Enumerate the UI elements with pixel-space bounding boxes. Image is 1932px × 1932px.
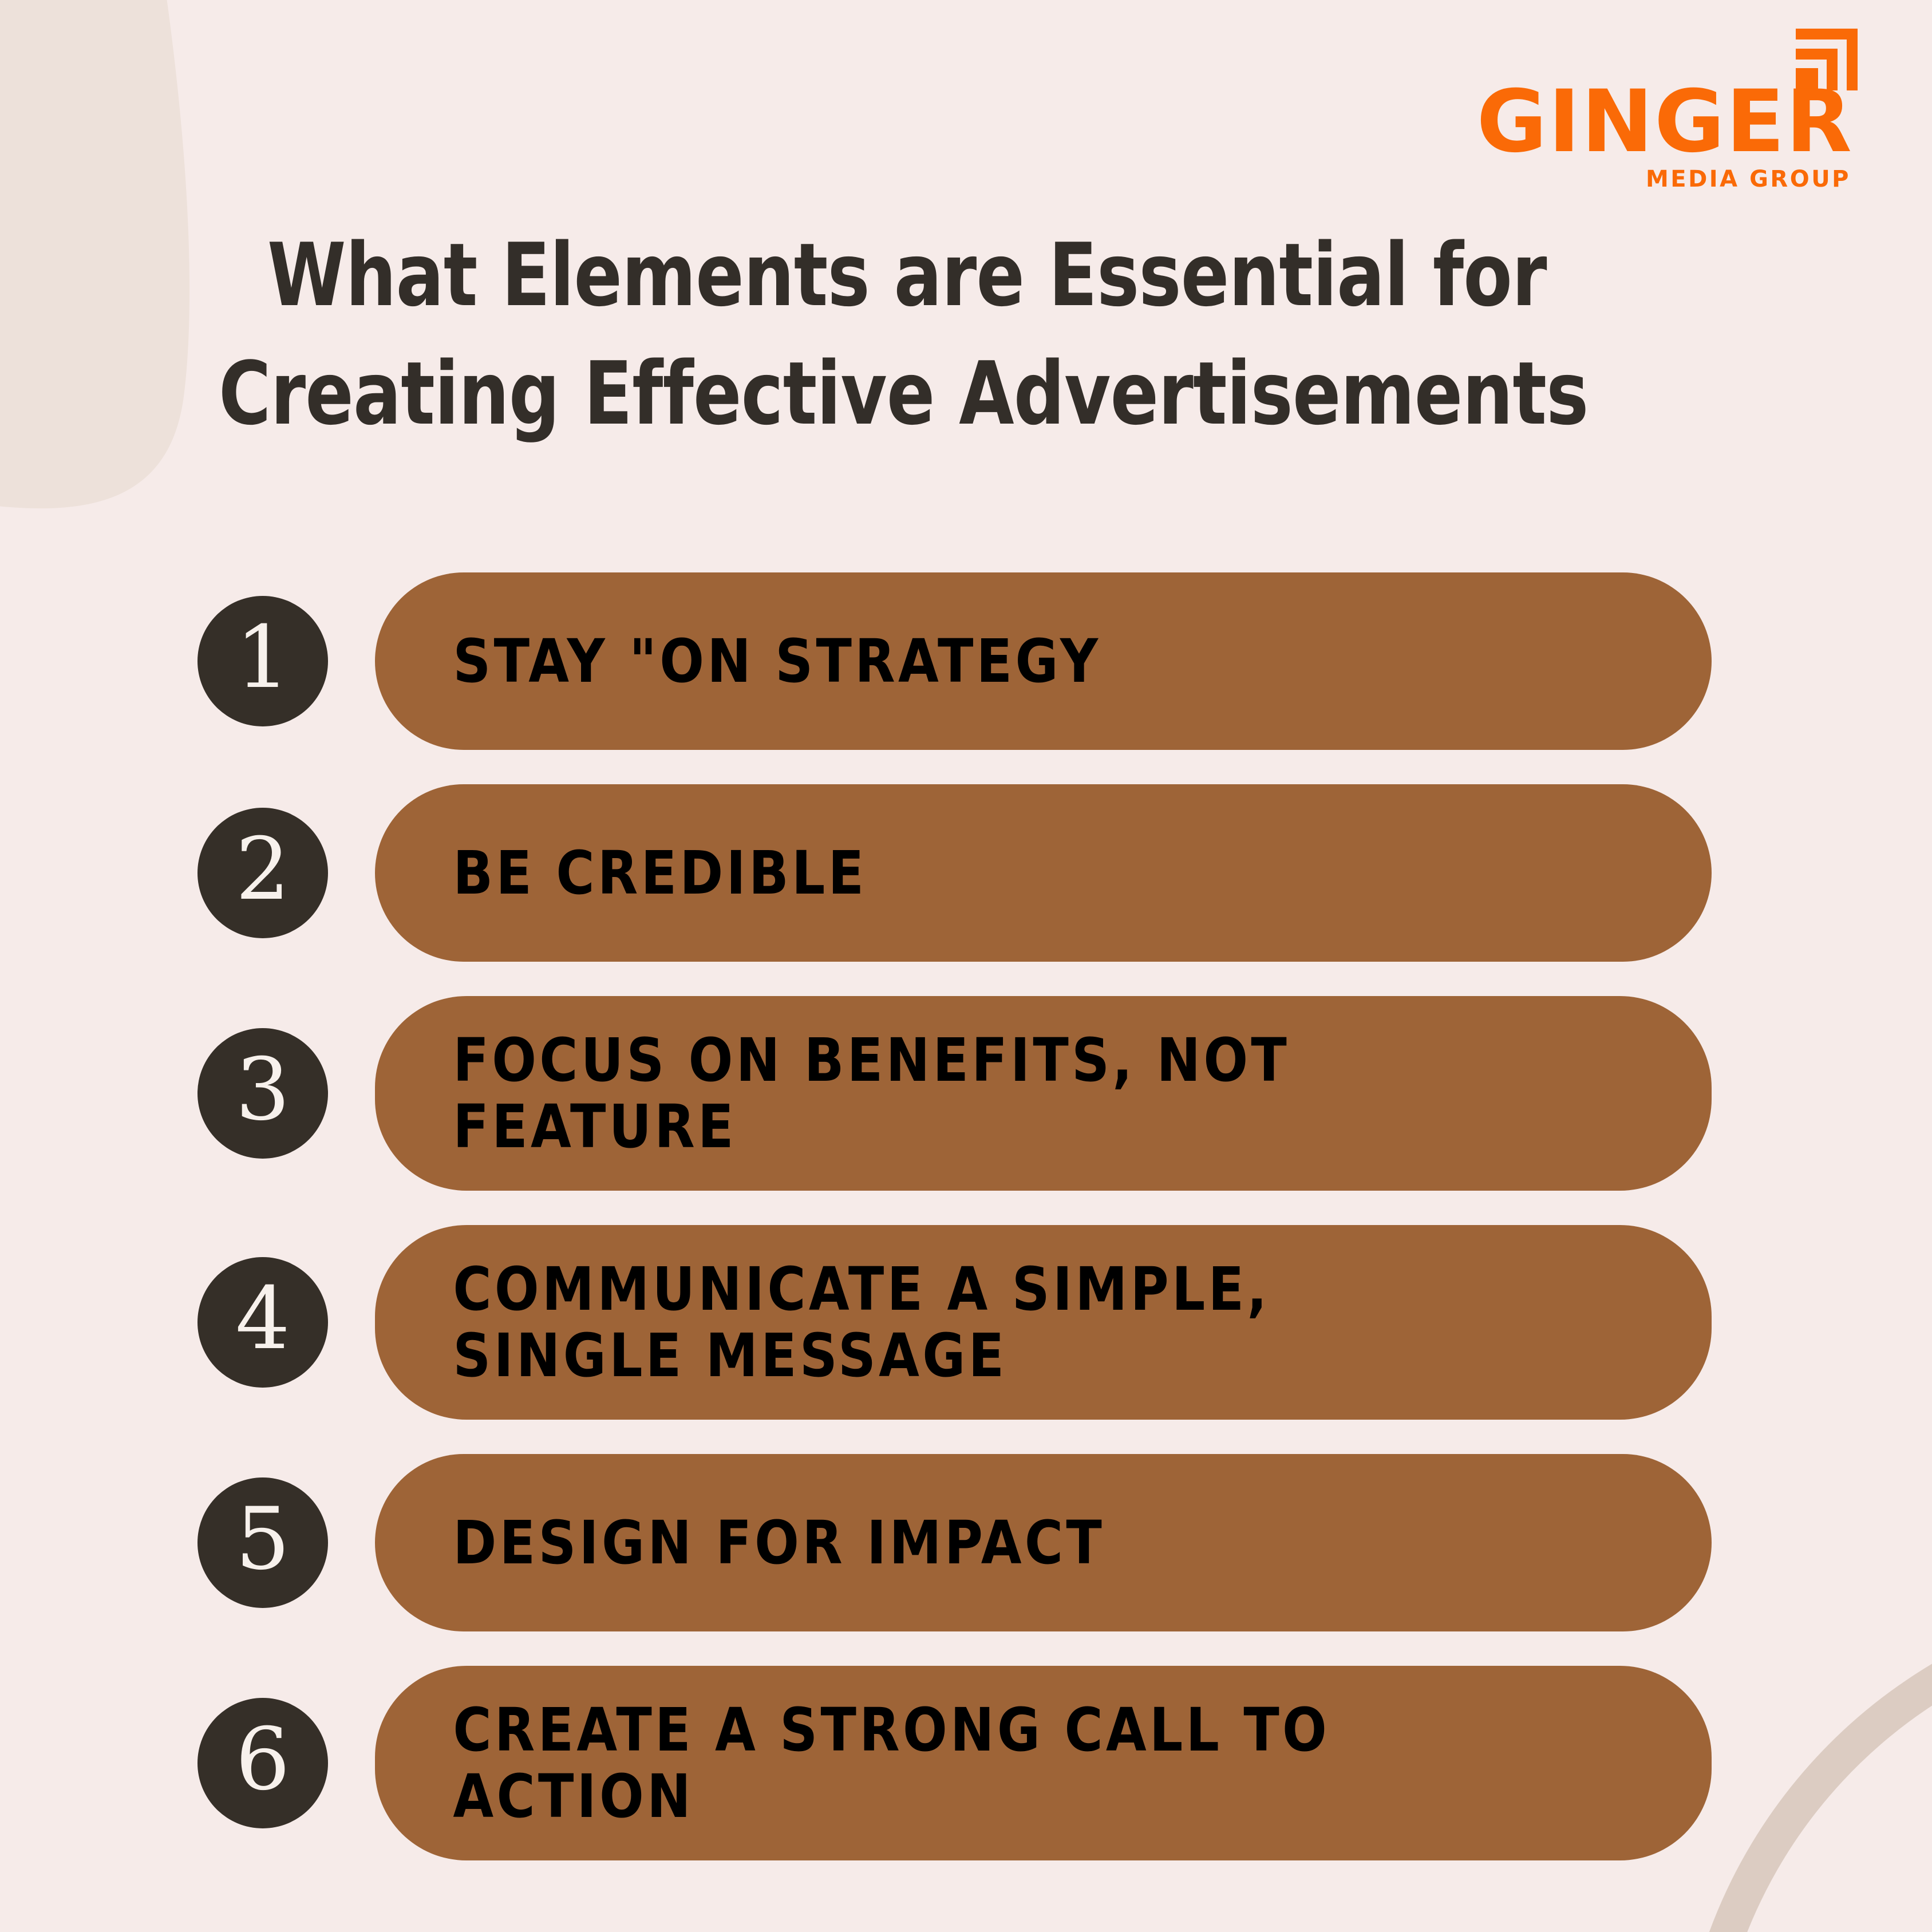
item-number: 1 [235, 615, 290, 701]
item-number: 6 [235, 1717, 290, 1803]
page-title: What Elements are Essential for Creating… [219, 216, 1718, 453]
list-item: 4 COMMUNICATE A SIMPLE, SINGLE MESSAGE [0, 1225, 1932, 1420]
list-item: 6 CREATE A STRONG CALL TO ACTION [0, 1666, 1932, 1860]
brand-logo: GINGER MEDIA GROUP [1440, 23, 1863, 200]
page-title-line-2: Creating Effective Advertisements [219, 335, 1448, 453]
item-label: STAY "ON STRATEGY [375, 628, 1551, 694]
item-pill[interactable]: COMMUNICATE A SIMPLE, SINGLE MESSAGE [375, 1225, 1712, 1420]
item-number-badge: 5 [197, 1477, 328, 1608]
item-pill[interactable]: CREATE A STRONG CALL TO ACTION [375, 1666, 1712, 1860]
list-item: 3 FOCUS ON BENEFITS, NOT FEATURE [0, 996, 1932, 1191]
item-number: 3 [235, 1047, 290, 1133]
logo-name: GINGER [1440, 82, 1853, 163]
item-number: 4 [235, 1276, 290, 1362]
item-number-badge: 4 [197, 1257, 328, 1388]
tips-list: 1 STAY "ON STRATEGY 2 BE CREDIBLE 3 FOCU… [0, 572, 1932, 1895]
blob-shape [0, 0, 189, 508]
logo-wordmark: GINGER MEDIA GROUP [1440, 82, 1863, 192]
item-pill[interactable]: FOCUS ON BENEFITS, NOT FEATURE [375, 996, 1712, 1191]
item-number-badge: 2 [197, 808, 328, 938]
item-label: BE CREDIBLE [375, 840, 1551, 906]
item-pill[interactable]: STAY "ON STRATEGY [375, 572, 1712, 750]
item-number-badge: 6 [197, 1698, 328, 1828]
list-item: 1 STAY "ON STRATEGY [0, 572, 1932, 750]
item-pill[interactable]: DESIGN FOR IMPACT [375, 1454, 1712, 1631]
item-number: 5 [235, 1496, 290, 1582]
list-item: 5 DESIGN FOR IMPACT [0, 1454, 1932, 1631]
item-number: 2 [235, 827, 290, 912]
page-title-line-1: What Elements are Essential for [267, 216, 1457, 335]
item-label: DESIGN FOR IMPACT [375, 1510, 1551, 1576]
item-pill[interactable]: BE CREDIBLE [375, 784, 1712, 962]
item-label: CREATE A STRONG CALL TO ACTION [375, 1697, 1551, 1830]
item-number-badge: 3 [197, 1028, 328, 1159]
item-label: FOCUS ON BENEFITS, NOT FEATURE [375, 1027, 1551, 1160]
list-item: 2 BE CREDIBLE [0, 784, 1932, 962]
item-label: COMMUNICATE A SIMPLE, SINGLE MESSAGE [375, 1256, 1551, 1389]
item-number-badge: 1 [197, 596, 328, 726]
